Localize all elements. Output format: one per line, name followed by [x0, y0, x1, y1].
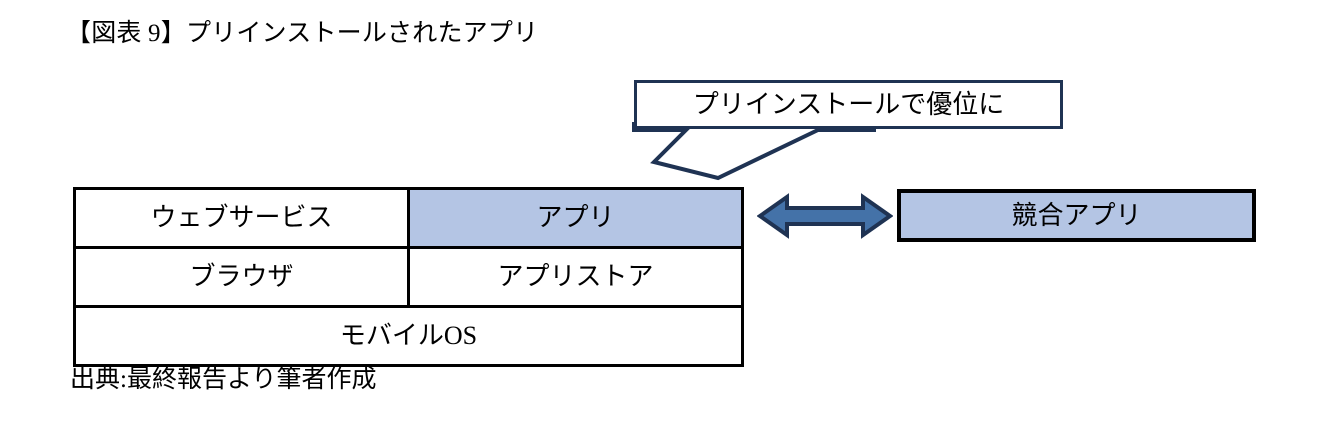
table-row: ブラウザ アプリストア	[75, 248, 743, 307]
table-row: ウェブサービス アプリ	[75, 189, 743, 248]
cell-app: アプリ	[409, 189, 743, 248]
cell-web-service: ウェブサービス	[75, 189, 409, 248]
double-headed-arrow-icon	[757, 192, 893, 240]
rival-app-box: 競合アプリ	[897, 189, 1256, 242]
callout-label: プリインストールで優位に	[637, 90, 1060, 120]
callout-balloon: プリインストールで優位に	[634, 80, 1063, 129]
figure-title: 【図表 9】プリインストールされたアプリ	[66, 18, 538, 50]
cell-app-store: アプリストア	[409, 248, 743, 307]
rival-app-label: 競合アプリ	[901, 201, 1252, 231]
cell-browser: ブラウザ	[75, 248, 409, 307]
cell-mobile-os: モバイルOS	[75, 307, 743, 366]
table-row: モバイルOS	[75, 307, 743, 366]
source-note: 出典:最終報告より筆者作成	[70, 364, 376, 396]
mobile-stack-table: ウェブサービス アプリ ブラウザ アプリストア モバイルOS	[73, 187, 744, 367]
